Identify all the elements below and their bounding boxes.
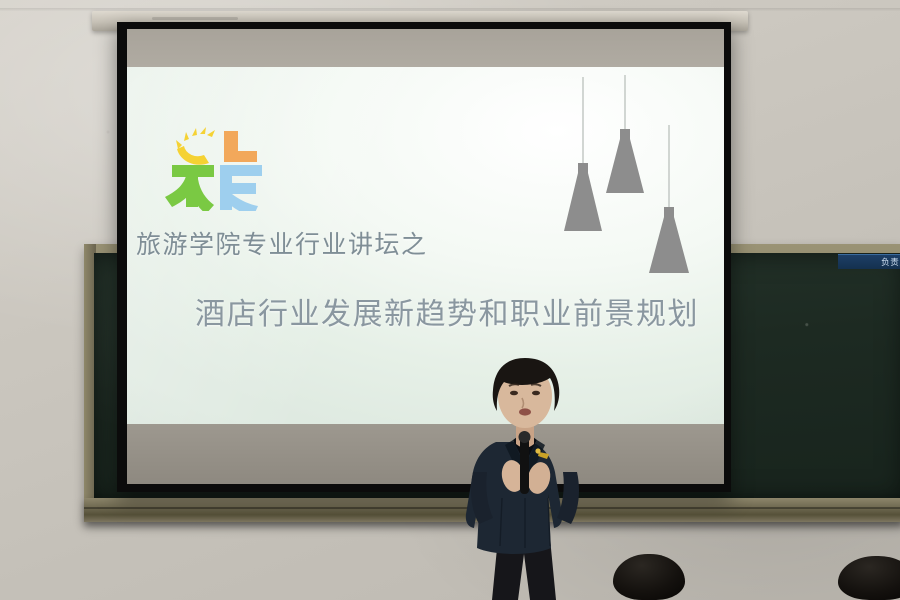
duty-sign-label: 负责人：梁瑞虹 bbox=[881, 256, 900, 268]
slide-subtitle-line: 旅游学院专业行业讲坛之 bbox=[136, 225, 428, 261]
lecture-hall-photo: 负责人：梁瑞虹 bbox=[0, 0, 900, 600]
slide: 旅游学院专业行业讲坛之 酒店行业发展新趋势和职业前景规划 bbox=[127, 67, 724, 424]
audience-head bbox=[613, 554, 685, 600]
pendant-lamps-illustration bbox=[545, 67, 710, 297]
projection-screen-surface: 旅游学院专业行业讲坛之 酒店行业发展新趋势和职业前景规划 bbox=[127, 29, 724, 484]
screen-band-top bbox=[127, 29, 724, 67]
travel-college-logo-icon bbox=[162, 123, 272, 211]
projection-screen: 旅游学院专业行业讲坛之 酒店行业发展新趋势和职业前景规划 bbox=[117, 22, 731, 492]
duty-sign: 负责人：梁瑞虹 bbox=[838, 254, 900, 269]
slide-title-line: 酒店行业发展新趋势和职业前景规划 bbox=[195, 289, 699, 333]
presenter bbox=[440, 348, 610, 600]
screen-band-bottom bbox=[127, 424, 724, 484]
